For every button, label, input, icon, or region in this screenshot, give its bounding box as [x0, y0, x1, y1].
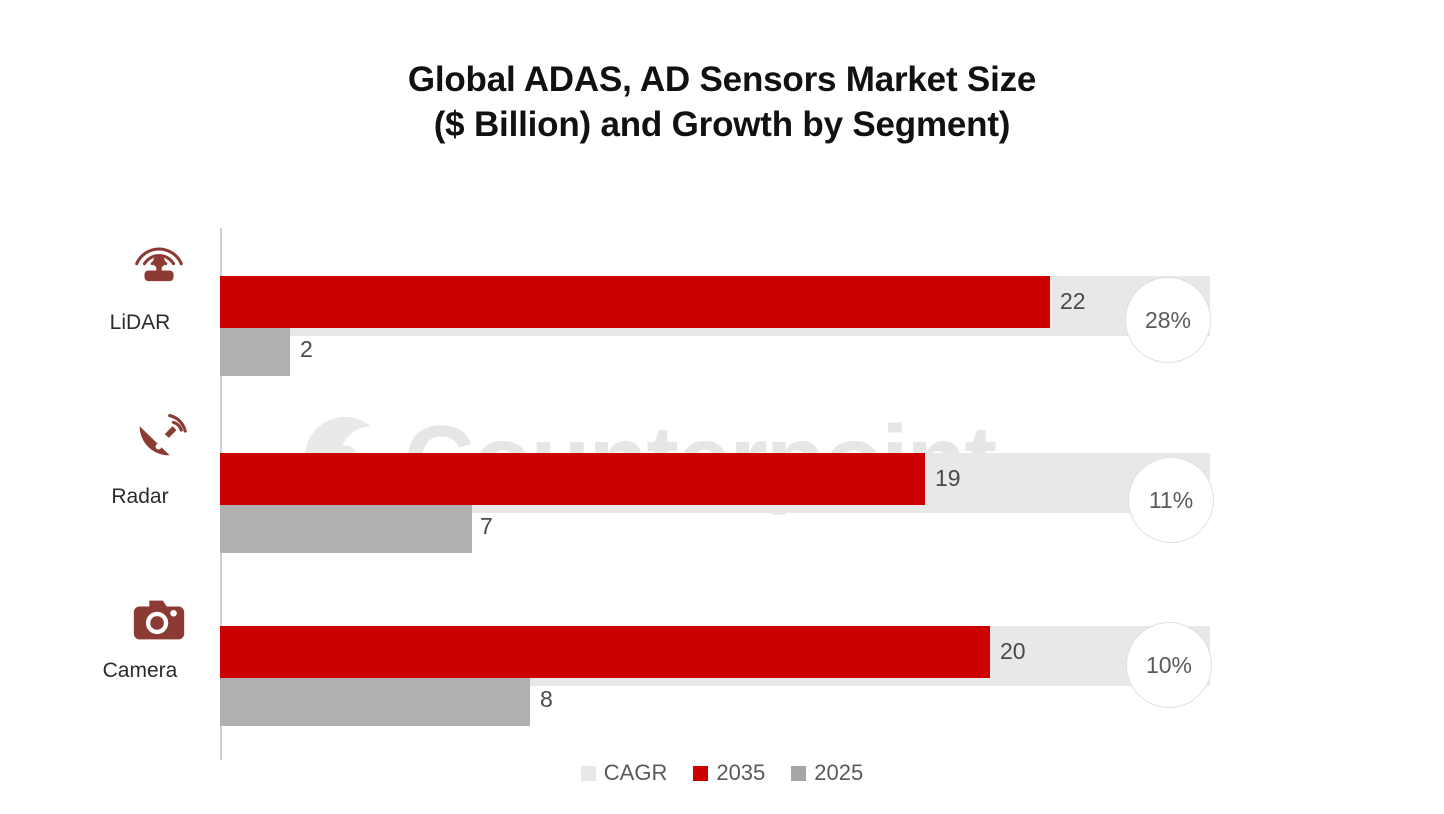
bar-value-2035-lidar: 22	[1060, 288, 1086, 315]
category-label-radar: Radar	[60, 485, 220, 509]
legend-swatch-cagr	[581, 766, 596, 781]
legend-label-2025: 2025	[814, 760, 863, 786]
bar-2035-lidar[interactable]	[220, 276, 1050, 328]
legend-label-cagr: CAGR	[604, 760, 668, 786]
bar-value-2025-radar: 7	[480, 513, 493, 540]
legend-label-2035: 2035	[716, 760, 765, 786]
category-label-camera: Camera	[60, 659, 220, 683]
legend-item-cagr[interactable]: CAGR	[581, 760, 668, 786]
chart-legend: CAGR 2035 2025	[0, 760, 1444, 786]
cagr-bubble-radar: 11%	[1128, 457, 1214, 543]
bar-2025-radar[interactable]	[220, 505, 472, 553]
bar-2025-camera[interactable]	[220, 678, 530, 726]
legend-item-2035[interactable]: 2035	[693, 760, 765, 786]
bar-value-2035-camera: 20	[1000, 638, 1026, 665]
bar-2035-camera[interactable]	[220, 626, 990, 678]
lidar-sensor-icon	[128, 226, 190, 284]
bar-value-2035-radar: 19	[935, 465, 961, 492]
legend-item-2025[interactable]: 2025	[791, 760, 863, 786]
bar-2025-lidar[interactable]	[220, 328, 290, 376]
cagr-bubble-lidar: 28%	[1125, 277, 1211, 363]
cagr-bubble-camera: 10%	[1126, 622, 1212, 708]
camera-icon	[128, 592, 190, 650]
bar-value-2025-camera: 8	[540, 686, 553, 713]
chart-plot-area: Counterpoint LiDAR 22 2 28%	[0, 0, 1444, 814]
bar-value-2025-lidar: 2	[300, 336, 313, 363]
legend-swatch-2035	[693, 766, 708, 781]
satellite-dish-icon	[128, 404, 190, 462]
category-label-lidar: LiDAR	[60, 311, 220, 335]
legend-swatch-2025	[791, 766, 806, 781]
bar-2035-radar[interactable]	[220, 453, 925, 505]
